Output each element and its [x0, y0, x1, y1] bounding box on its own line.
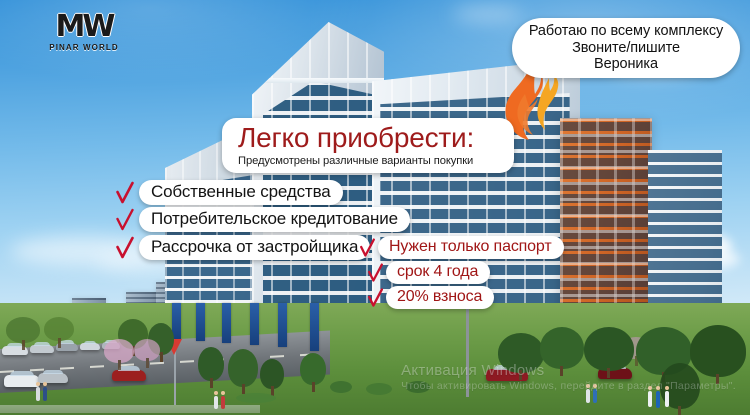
car	[80, 343, 100, 350]
logo-monogram: MW	[40, 12, 128, 42]
car	[112, 370, 146, 381]
facade-band	[252, 78, 384, 83]
headline-callout: Легко приобрести: Предусмотрены различны…	[222, 118, 514, 173]
street-banner	[196, 303, 205, 341]
list-item: Собственные средства	[116, 180, 343, 205]
car	[30, 345, 54, 353]
check-mark-icon	[116, 181, 134, 205]
tree	[498, 333, 544, 373]
tree	[228, 349, 258, 387]
check-mark-icon	[368, 288, 383, 308]
pedestrian	[43, 387, 47, 401]
tree	[198, 347, 224, 381]
pedestrian	[586, 389, 590, 403]
logo-wordmark: PINAR WORLD	[40, 43, 128, 52]
car	[38, 373, 68, 383]
check-mark-icon	[360, 238, 375, 258]
street-banner	[310, 303, 319, 351]
advertisement-image: MW PINAR WORLD Работаю по всему комплекс…	[0, 0, 750, 415]
contact-line-2: Звоните/пишите	[572, 40, 680, 57]
tree-blossom	[134, 339, 160, 361]
pedestrian	[214, 396, 218, 409]
list-item: Потребительское кредитование	[116, 207, 410, 232]
list-item: 20% взноса	[368, 286, 494, 309]
tree	[690, 325, 746, 377]
pedestrian	[593, 389, 597, 403]
installment-term-label: 20% взноса	[386, 286, 494, 309]
installment-term-label: Нужен только паспорт	[378, 236, 564, 259]
pedestrian	[656, 391, 660, 408]
street-banner	[222, 303, 231, 343]
tree-blossom	[104, 339, 134, 363]
payment-option-label: Собственные средства	[139, 180, 343, 205]
bush	[366, 383, 392, 395]
tree	[44, 317, 74, 341]
list-item: Рассрочка от застройщика	[116, 235, 370, 260]
car	[4, 375, 40, 387]
check-mark-icon	[368, 263, 383, 283]
pedestrian	[36, 387, 40, 401]
contact-callout: Работаю по всему комплексу Звоните/пишит…	[512, 18, 740, 78]
tree	[584, 327, 634, 371]
lamp-post	[466, 301, 469, 397]
pedestrian	[221, 396, 225, 409]
contact-line-1: Работаю по всему комплексу	[529, 23, 723, 40]
brand-logo: MW PINAR WORLD	[40, 12, 128, 58]
cloud	[452, 6, 522, 22]
sign-pole	[174, 349, 176, 405]
payment-option-label: Потребительское кредитование	[139, 207, 410, 232]
tree	[540, 327, 584, 369]
tree	[6, 317, 40, 343]
pedestrian	[648, 391, 652, 407]
list-item: срок 4 года	[368, 261, 490, 284]
installment-term-label: срок 4 года	[386, 261, 490, 284]
bush	[406, 381, 430, 393]
tree	[260, 359, 284, 389]
contact-line-3: Вероника	[594, 56, 658, 73]
list-item: Нужен только паспорт	[360, 236, 564, 259]
pedestrian	[665, 391, 669, 407]
bush	[330, 381, 352, 393]
check-mark-icon	[116, 236, 134, 260]
page-title: Легко приобрести:	[238, 124, 474, 152]
payment-option-label: Рассрочка от застройщика	[139, 235, 370, 260]
street-banner	[278, 303, 287, 347]
check-mark-icon	[116, 208, 134, 232]
tree	[300, 353, 326, 385]
bush	[236, 393, 276, 403]
page-subtitle: Предусмотрены различные варианты покупки	[238, 155, 473, 167]
street-banner	[250, 303, 259, 345]
